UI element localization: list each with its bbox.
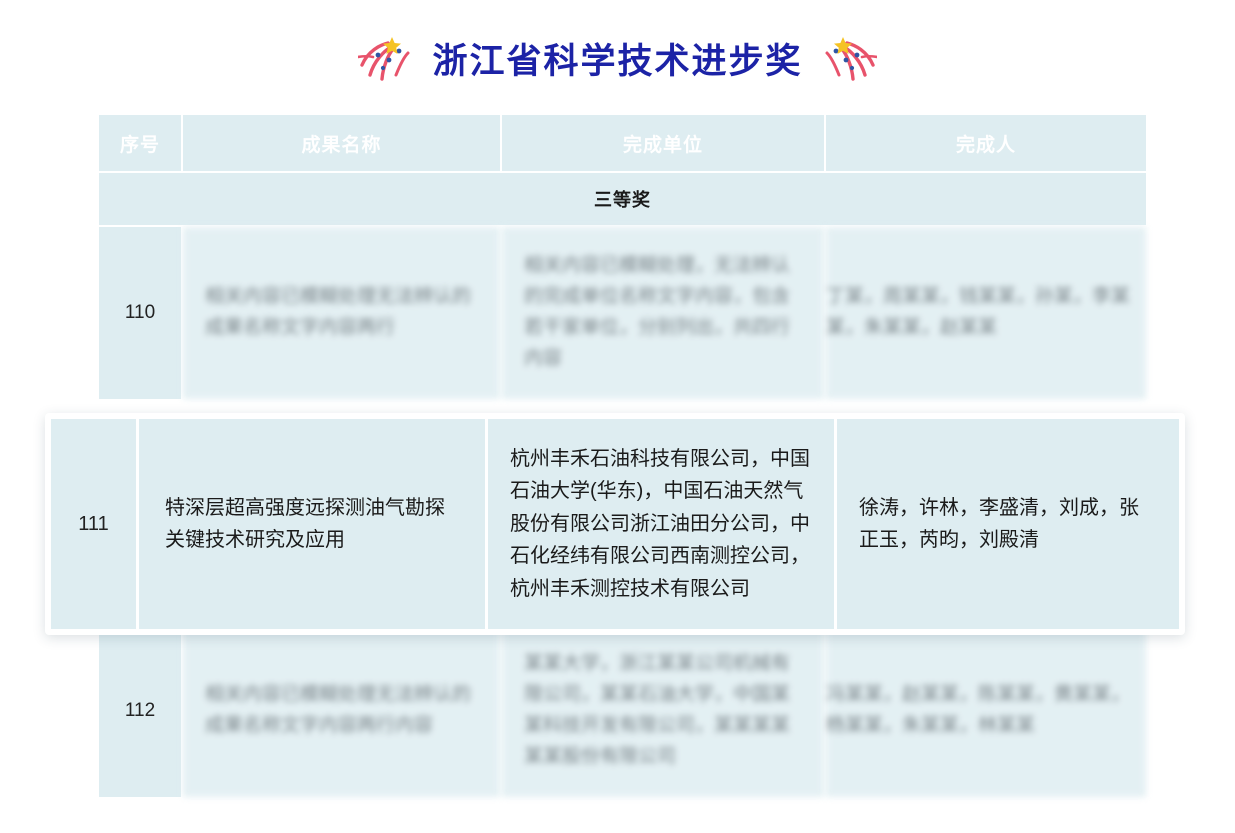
confetti-firework-ornament-right bbox=[819, 35, 877, 87]
highlighted-row-callout[interactable]: 111 特深层超高强度远探测油气勘探关键技术研究及应用 杭州丰禾石油科技有限公司… bbox=[45, 413, 1185, 635]
table-header-row: 序号 成果名称 完成单位 完成人 bbox=[99, 115, 1146, 171]
row-people-redacted: 冯某某，赵某某，陈某某，黄某某，杨某某，朱某某，林某某 bbox=[826, 625, 1146, 797]
row-name-redacted: 相关内容已模糊处理无法辨认的成果名称文字内容两行 bbox=[183, 227, 500, 399]
table-header: 序号 成果名称 完成单位 完成人 bbox=[99, 115, 1146, 171]
row-unit-redacted: 相关内容已模糊处理，无法辨认的完成单位名称文字内容，包含若干家单位，分别列出，共… bbox=[502, 227, 824, 399]
section-header-row: 三等奖 bbox=[99, 173, 1146, 225]
row-name-redacted: 相关内容已模糊处理无法辨认的成果名称文字内容两行内容 bbox=[183, 625, 500, 797]
page-title: 浙江省科学技术进步奖 bbox=[432, 44, 802, 79]
highlighted-row-unit: 杭州丰禾石油科技有限公司，中国石油大学(华东)，中国石油天然气股份有限公司浙江油… bbox=[488, 419, 834, 629]
section-label-third-prize: 三等奖 bbox=[99, 173, 1146, 225]
row-people-redacted: 丁某，周某某，钱某某，孙某，李某某，朱某某，赵某某 bbox=[826, 227, 1146, 399]
column-header-name: 成果名称 bbox=[183, 115, 500, 171]
row-unit-redacted: 某某大学，浙江某某公司机械有限公司，某某石油大学，中国某某科技开发有限公司，某某… bbox=[502, 625, 824, 797]
highlighted-row-name: 特深层超高强度远探测油气勘探关键技术研究及应用 bbox=[139, 419, 485, 629]
column-header-index: 序号 bbox=[99, 115, 181, 171]
column-header-people: 完成人 bbox=[826, 115, 1146, 171]
table-row[interactable]: 110 相关内容已模糊处理无法辨认的成果名称文字内容两行 相关内容已模糊处理，无… bbox=[99, 227, 1146, 399]
highlighted-row-index: 111 bbox=[51, 419, 136, 629]
highlighted-row-people: 徐涛，许林，李盛清，刘成，张正玉，芮昀，刘殿清 bbox=[837, 419, 1179, 629]
confetti-firework-ornament-left bbox=[358, 35, 416, 87]
row-index: 112 bbox=[99, 625, 181, 797]
column-header-unit: 完成单位 bbox=[502, 115, 824, 171]
row-index: 110 bbox=[99, 227, 181, 399]
title-banner: 浙江省科学技术进步奖 bbox=[0, 26, 1235, 96]
table-row[interactable]: 112 相关内容已模糊处理无法辨认的成果名称文字内容两行内容 某某大学，浙江某某… bbox=[99, 625, 1146, 797]
